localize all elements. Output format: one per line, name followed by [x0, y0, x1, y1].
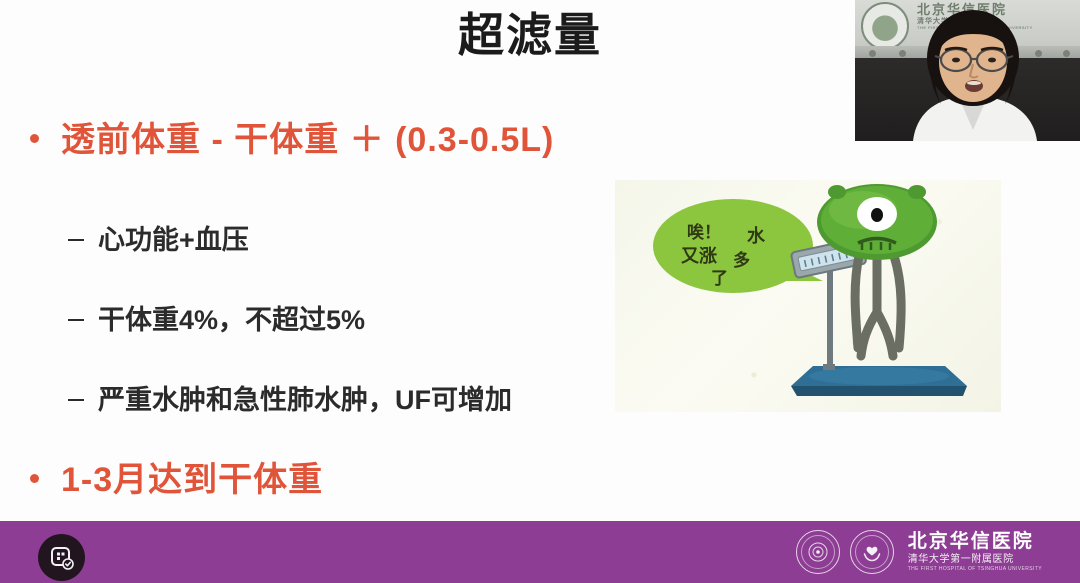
footer-brand-en: THE FIRST HOSPITAL OF TSINGHUA UNIVERSIT… — [908, 566, 1042, 573]
green-creature-head-icon — [817, 184, 937, 260]
bullet-label: 心功能+血压 — [98, 218, 249, 257]
speech-bubble-icon: 唉！ 水 又涨 多 了 — [653, 199, 823, 293]
bullet-item-primary-2: 1-3月达到干体重 — [30, 452, 323, 501]
illustration-speech-text: 唉！水又涨多了 — [0, 0, 1, 1]
bullet-dot-icon — [30, 474, 39, 483]
weight-scale-cartoon-graphic: 唉！ 水 又涨 多 了 — [615, 180, 1001, 412]
presenter-video-overlay[interactable]: 北京华信医院 清华大学第一附属医院 THE FIRST HOSPITAL OF … — [855, 0, 1080, 141]
svg-text:了: 了 — [711, 269, 728, 288]
bullet-label: 干体重4%，不超过5% — [98, 298, 365, 337]
bullet-label: 严重水肿和急性肺水肿，UF可增加 — [98, 378, 512, 417]
hospital-seal-logo-icon — [796, 530, 840, 574]
bullet-item-sub-2: 干体重4%，不超过5% — [68, 298, 365, 337]
bullet-item-primary-1: 透前体重 - 干体重 ＋ (0.3-0.5L) — [30, 112, 554, 161]
verified-screenshot-badge[interactable] — [38, 534, 85, 581]
footer-brand-main: 北京华信医院 — [908, 532, 1042, 553]
footer-branding: 北京华信医院 清华大学第一附属医院 THE FIRST HOSPITAL OF … — [796, 527, 1042, 577]
bullet-item-sub-3: 严重水肿和急性肺水肿，UF可增加 — [68, 378, 512, 417]
footer-brand-text: 北京华信医院 清华大学第一附属医院 THE FIRST HOSPITAL OF … — [908, 532, 1042, 572]
bullet-dot-icon — [30, 134, 39, 143]
presenter-portrait — [855, 0, 1080, 141]
verified-screenshot-icon — [49, 545, 75, 571]
bullet-dash-icon — [68, 239, 84, 241]
stick-figure-body — [855, 254, 901, 356]
bullet-dash-icon — [68, 399, 84, 401]
svg-text:又涨: 又涨 — [680, 246, 717, 266]
footer-brand-sub: 清华大学第一附属医院 — [908, 553, 1042, 566]
svg-text:水: 水 — [747, 225, 766, 246]
bullet-label: 透前体重 - 干体重 ＋ (0.3-0.5L) — [61, 112, 554, 161]
bullet-item-sub-1: 心功能+血压 — [68, 218, 249, 257]
scale-post-foot — [823, 364, 835, 370]
svg-text:唉！: 唉！ — [687, 222, 721, 242]
scale-platform-icon — [791, 366, 967, 396]
bullet-label: 1-3月达到干体重 — [61, 452, 323, 501]
heart-hands-logo-icon — [850, 530, 894, 574]
presentation-slide: 超滤量 透前体重 - 干体重 ＋ (0.3-0.5L) 心功能+血压 干体重4%… — [0, 0, 1080, 583]
cartoon-illustration: 唉！ 水 又涨 多 了 — [615, 180, 1001, 412]
svg-text:多: 多 — [733, 250, 750, 270]
bullet-dash-icon — [68, 319, 84, 321]
